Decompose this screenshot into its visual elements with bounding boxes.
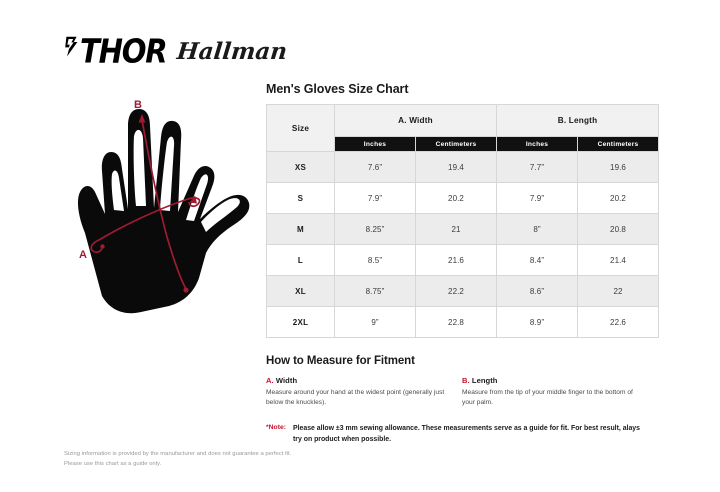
cell-length-in: 8.9” xyxy=(497,307,578,338)
label-a: A xyxy=(79,249,87,261)
cell-length-cm: 20.2 xyxy=(578,183,659,214)
note-label: *Note: xyxy=(266,424,286,431)
table-header-width-inches: Inches xyxy=(335,137,416,152)
cell-length-in: 8.4” xyxy=(497,245,578,276)
how-to-length-heading: B. Length xyxy=(462,376,646,385)
footer-disclaimer: Sizing information is provided by the ma… xyxy=(64,449,484,470)
hallman-wordmark: Hallman xyxy=(176,40,288,63)
how-to-width-heading: A. Width xyxy=(266,376,450,385)
note-section: *Note: Please allow ±3 mm sewing allowan… xyxy=(266,424,658,445)
cell-length-in: 8.6” xyxy=(497,276,578,307)
cell-width-cm: 22.8 xyxy=(416,307,497,338)
cell-width-in: 8.75” xyxy=(335,276,416,307)
how-to-measure-title: How to Measure for Fitment xyxy=(266,355,658,367)
note-text: Please allow ±3 mm sewing allowance. The… xyxy=(293,424,645,445)
cell-width-in: 8.5” xyxy=(335,245,416,276)
table-row: S 7.9” 20.2 7.9” 20.2 xyxy=(267,183,659,214)
table-row: L 8.5” 21.6 8.4” 21.4 xyxy=(267,245,659,276)
length-name: Length xyxy=(472,376,498,385)
label-b: B xyxy=(134,99,142,111)
table-header-width: A. Width xyxy=(335,105,497,137)
cell-length-cm: 22 xyxy=(578,276,659,307)
table-header-length-inches: Inches xyxy=(497,137,578,152)
cell-width-in: 9” xyxy=(335,307,416,338)
page-title: Men's Gloves Size Chart xyxy=(266,82,658,96)
cell-size: XS xyxy=(267,152,335,183)
footer-line-1: Sizing information is provided by the ma… xyxy=(64,449,484,459)
table-header-length: B. Length xyxy=(497,105,659,137)
thor-hammer-icon xyxy=(64,36,79,68)
table-row: M 8.25” 21 8” 20.8 xyxy=(267,214,659,245)
footer-line-2: Please use this chart as a guide only. xyxy=(64,459,484,469)
size-chart-table: Size A. Width B. Length Inches Centimete… xyxy=(266,104,659,338)
table-header-length-centimeters: Centimeters xyxy=(578,137,659,152)
cell-length-in: 7.9” xyxy=(497,183,578,214)
thor-logo: THOR xyxy=(64,36,163,68)
how-to-measure-length: B. Length Measure from the tip of your m… xyxy=(462,376,658,408)
thor-wordmark: THOR xyxy=(80,35,166,68)
hand-measurement-diagram: B A xyxy=(62,92,258,318)
cell-width-in: 8.25” xyxy=(335,214,416,245)
table-header-width-centimeters: Centimeters xyxy=(416,137,497,152)
cell-width-cm: 20.2 xyxy=(416,183,497,214)
how-to-width-body: Measure around your hand at the widest p… xyxy=(266,388,450,408)
hand-silhouette-icon xyxy=(78,109,249,313)
table-header-size: Size xyxy=(267,105,335,152)
chart-content: Men's Gloves Size Chart Size A. Width B.… xyxy=(266,82,658,445)
cell-size: 2XL xyxy=(267,307,335,338)
cell-length-in: 8” xyxy=(497,214,578,245)
table-row: XS 7.6” 19.4 7.7” 19.6 xyxy=(267,152,659,183)
width-name: Width xyxy=(276,376,297,385)
table-header-group-row: Size A. Width B. Length xyxy=(267,105,659,137)
cell-size: M xyxy=(267,214,335,245)
cell-size: L xyxy=(267,245,335,276)
cell-length-cm: 22.6 xyxy=(578,307,659,338)
cell-size: S xyxy=(267,183,335,214)
cell-length-cm: 21.4 xyxy=(578,245,659,276)
cell-width-cm: 22.2 xyxy=(416,276,497,307)
brand-logo-bar: THOR Hallman xyxy=(64,33,294,71)
cell-width-in: 7.6” xyxy=(335,152,416,183)
length-arrow-endpoint-icon xyxy=(183,287,188,292)
cell-width-in: 7.9” xyxy=(335,183,416,214)
how-to-measure-section: How to Measure for Fitment A. Width Meas… xyxy=(266,355,658,408)
cell-length-in: 7.7” xyxy=(497,152,578,183)
how-to-length-body: Measure from the tip of your middle fing… xyxy=(462,388,646,408)
table-row: 2XL 9” 22.8 8.9” 22.6 xyxy=(267,307,659,338)
cell-length-cm: 20.8 xyxy=(578,214,659,245)
cell-length-cm: 19.6 xyxy=(578,152,659,183)
cell-size: XL xyxy=(267,276,335,307)
cell-width-cm: 19.4 xyxy=(416,152,497,183)
length-marker: B. xyxy=(462,376,470,385)
width-arrow-endpoint-icon xyxy=(100,244,104,248)
cell-width-cm: 21.6 xyxy=(416,245,497,276)
width-marker: A. xyxy=(266,376,274,385)
size-chart-page: THOR Hallman B xyxy=(0,0,720,492)
table-row: XL 8.75” 22.2 8.6” 22 xyxy=(267,276,659,307)
cell-width-cm: 21 xyxy=(416,214,497,245)
how-to-measure-width: A. Width Measure around your hand at the… xyxy=(266,376,462,408)
